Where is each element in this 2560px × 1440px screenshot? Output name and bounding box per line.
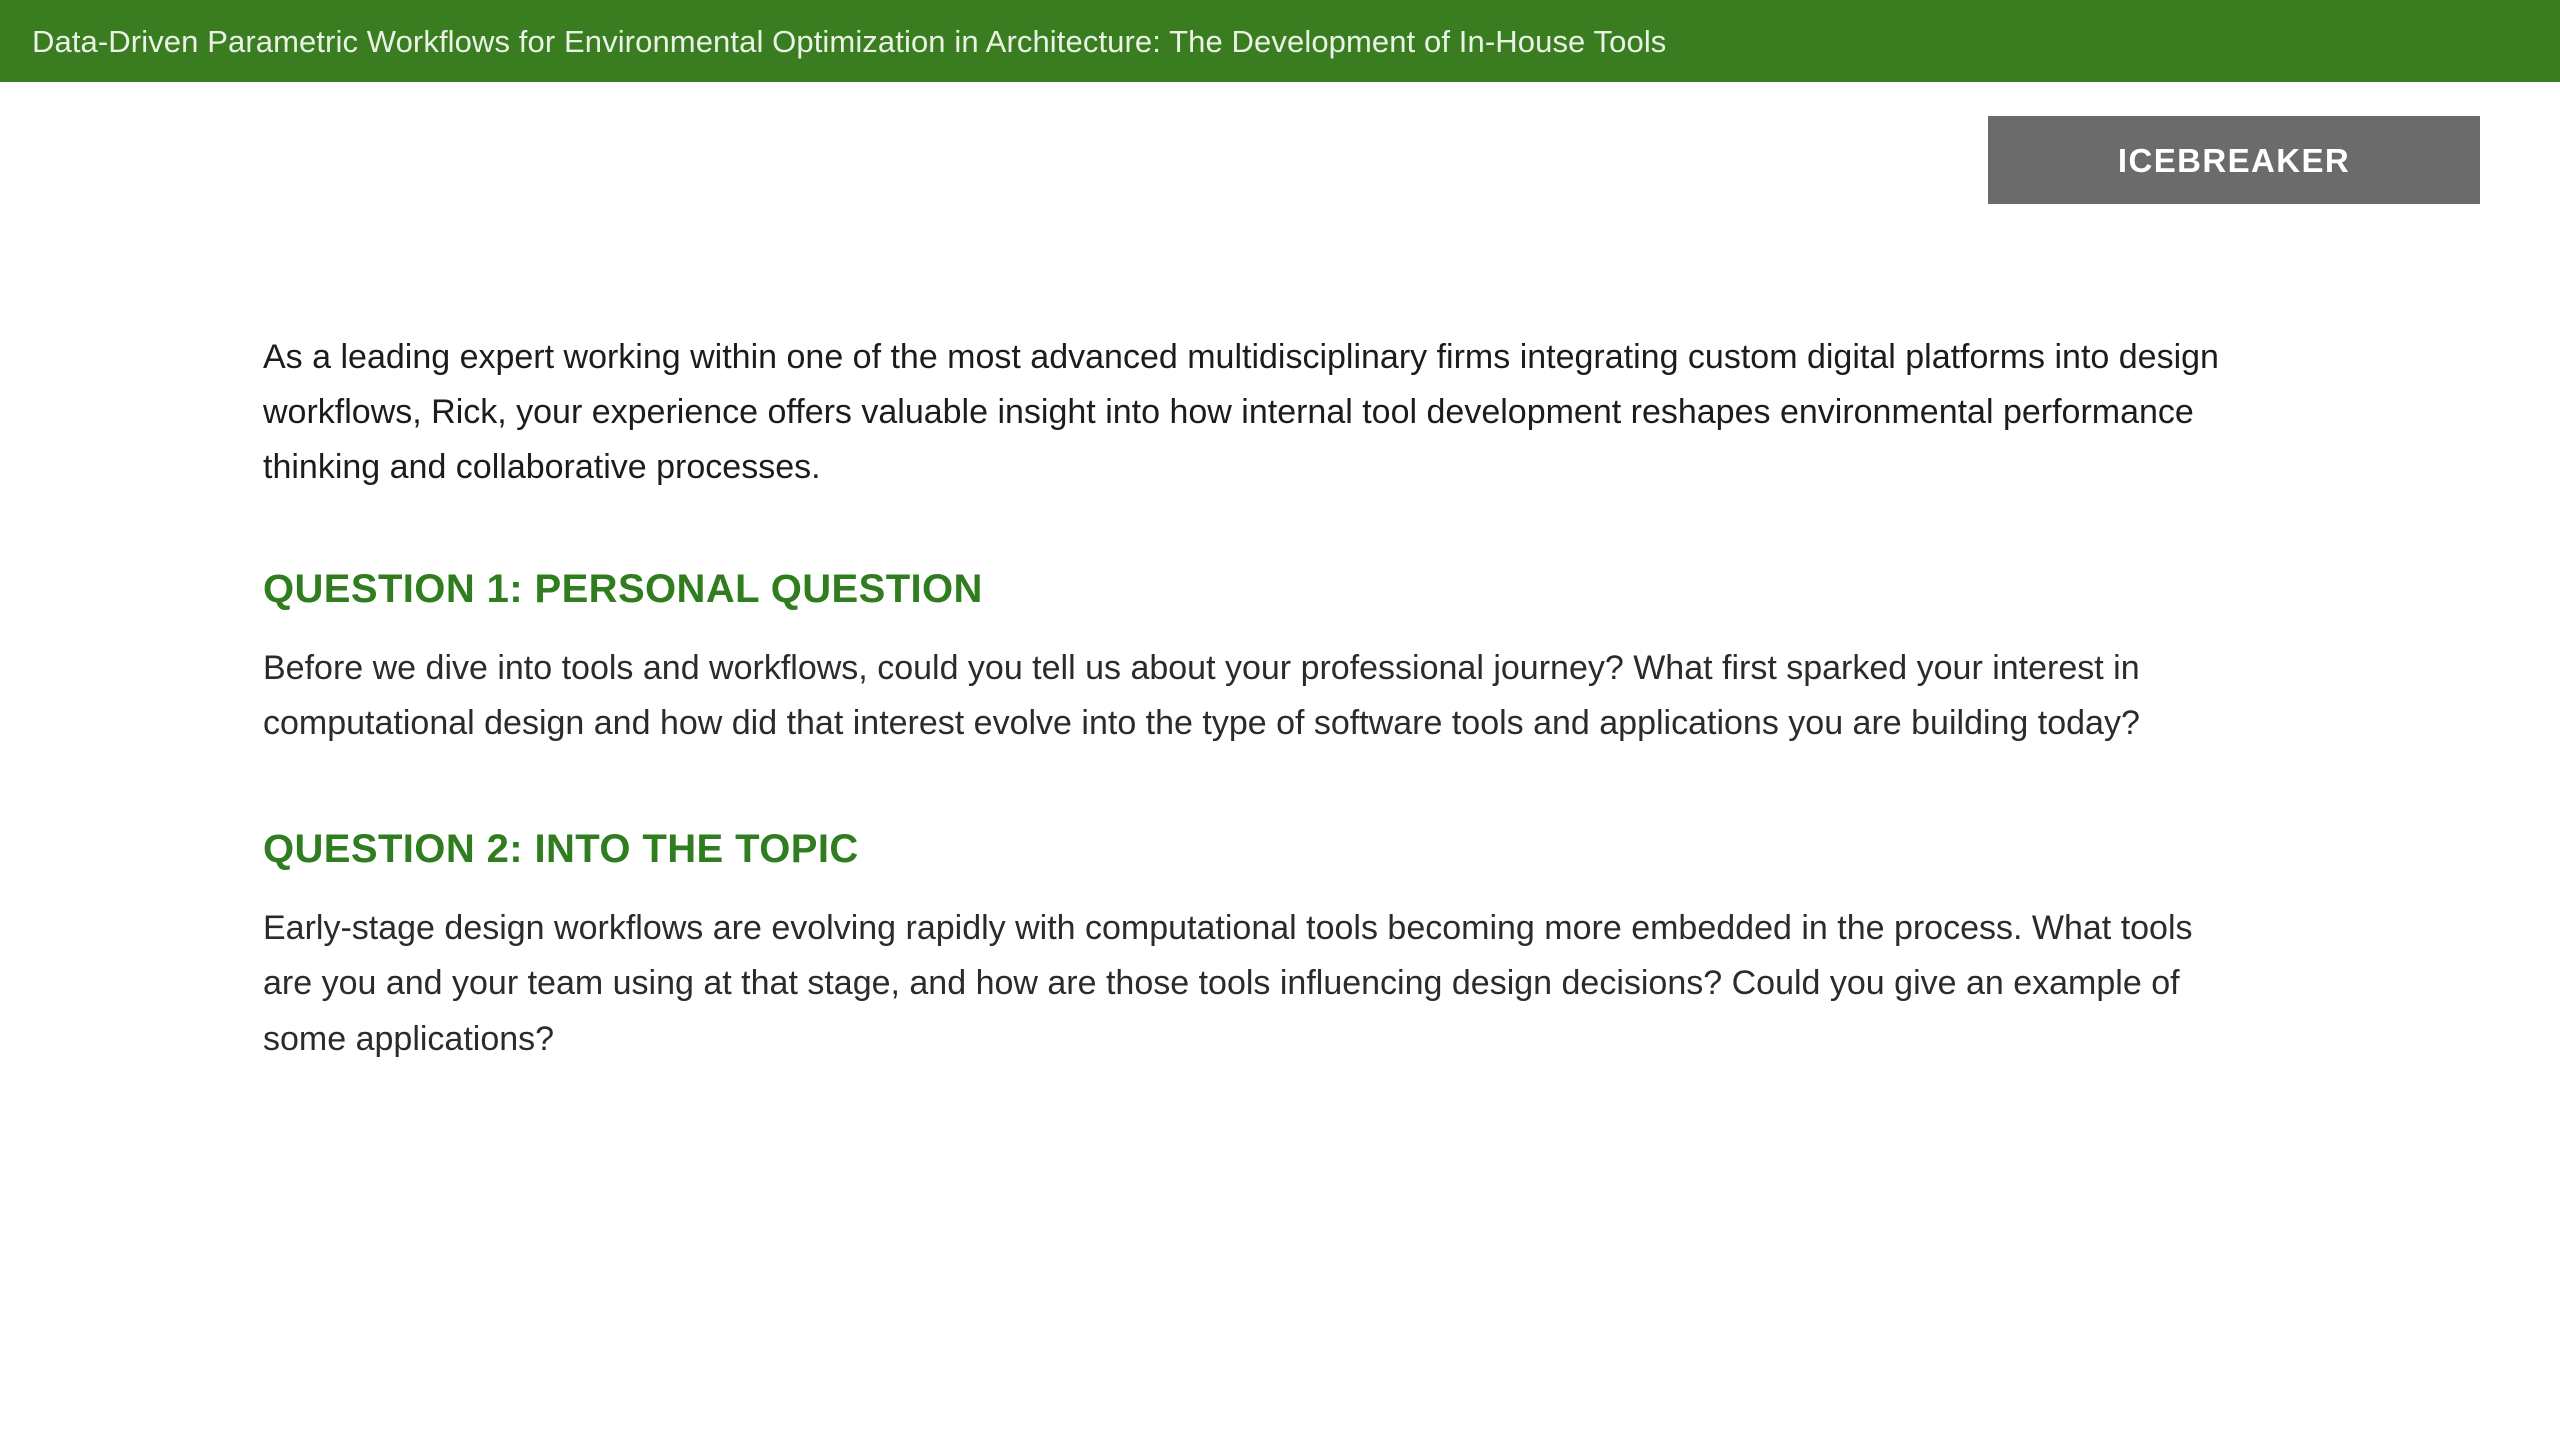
question-block-1: QUESTION 1: PERSONAL QUESTION Before we … bbox=[263, 567, 2273, 751]
page-title: Data-Driven Parametric Workflows for Env… bbox=[32, 26, 1666, 57]
icebreaker-badge-label: ICEBREAKER bbox=[2118, 144, 2350, 177]
question-1-heading: QUESTION 1: PERSONAL QUESTION bbox=[263, 567, 2273, 611]
slide-content: As a leading expert working within one o… bbox=[263, 330, 2273, 1067]
question-1-body: Before we dive into tools and workflows,… bbox=[263, 641, 2153, 751]
question-2-heading: QUESTION 2: INTO THE TOPIC bbox=[263, 827, 2273, 871]
icebreaker-badge: ICEBREAKER bbox=[1988, 116, 2480, 204]
intro-paragraph: As a leading expert working within one o… bbox=[263, 330, 2223, 495]
header-bar: Data-Driven Parametric Workflows for Env… bbox=[0, 0, 2560, 82]
question-2-body: Early-stage design workflows are evolvin… bbox=[263, 901, 2203, 1066]
badge-row: ICEBREAKER bbox=[0, 116, 2560, 204]
question-block-2: QUESTION 2: INTO THE TOPIC Early-stage d… bbox=[263, 827, 2273, 1066]
